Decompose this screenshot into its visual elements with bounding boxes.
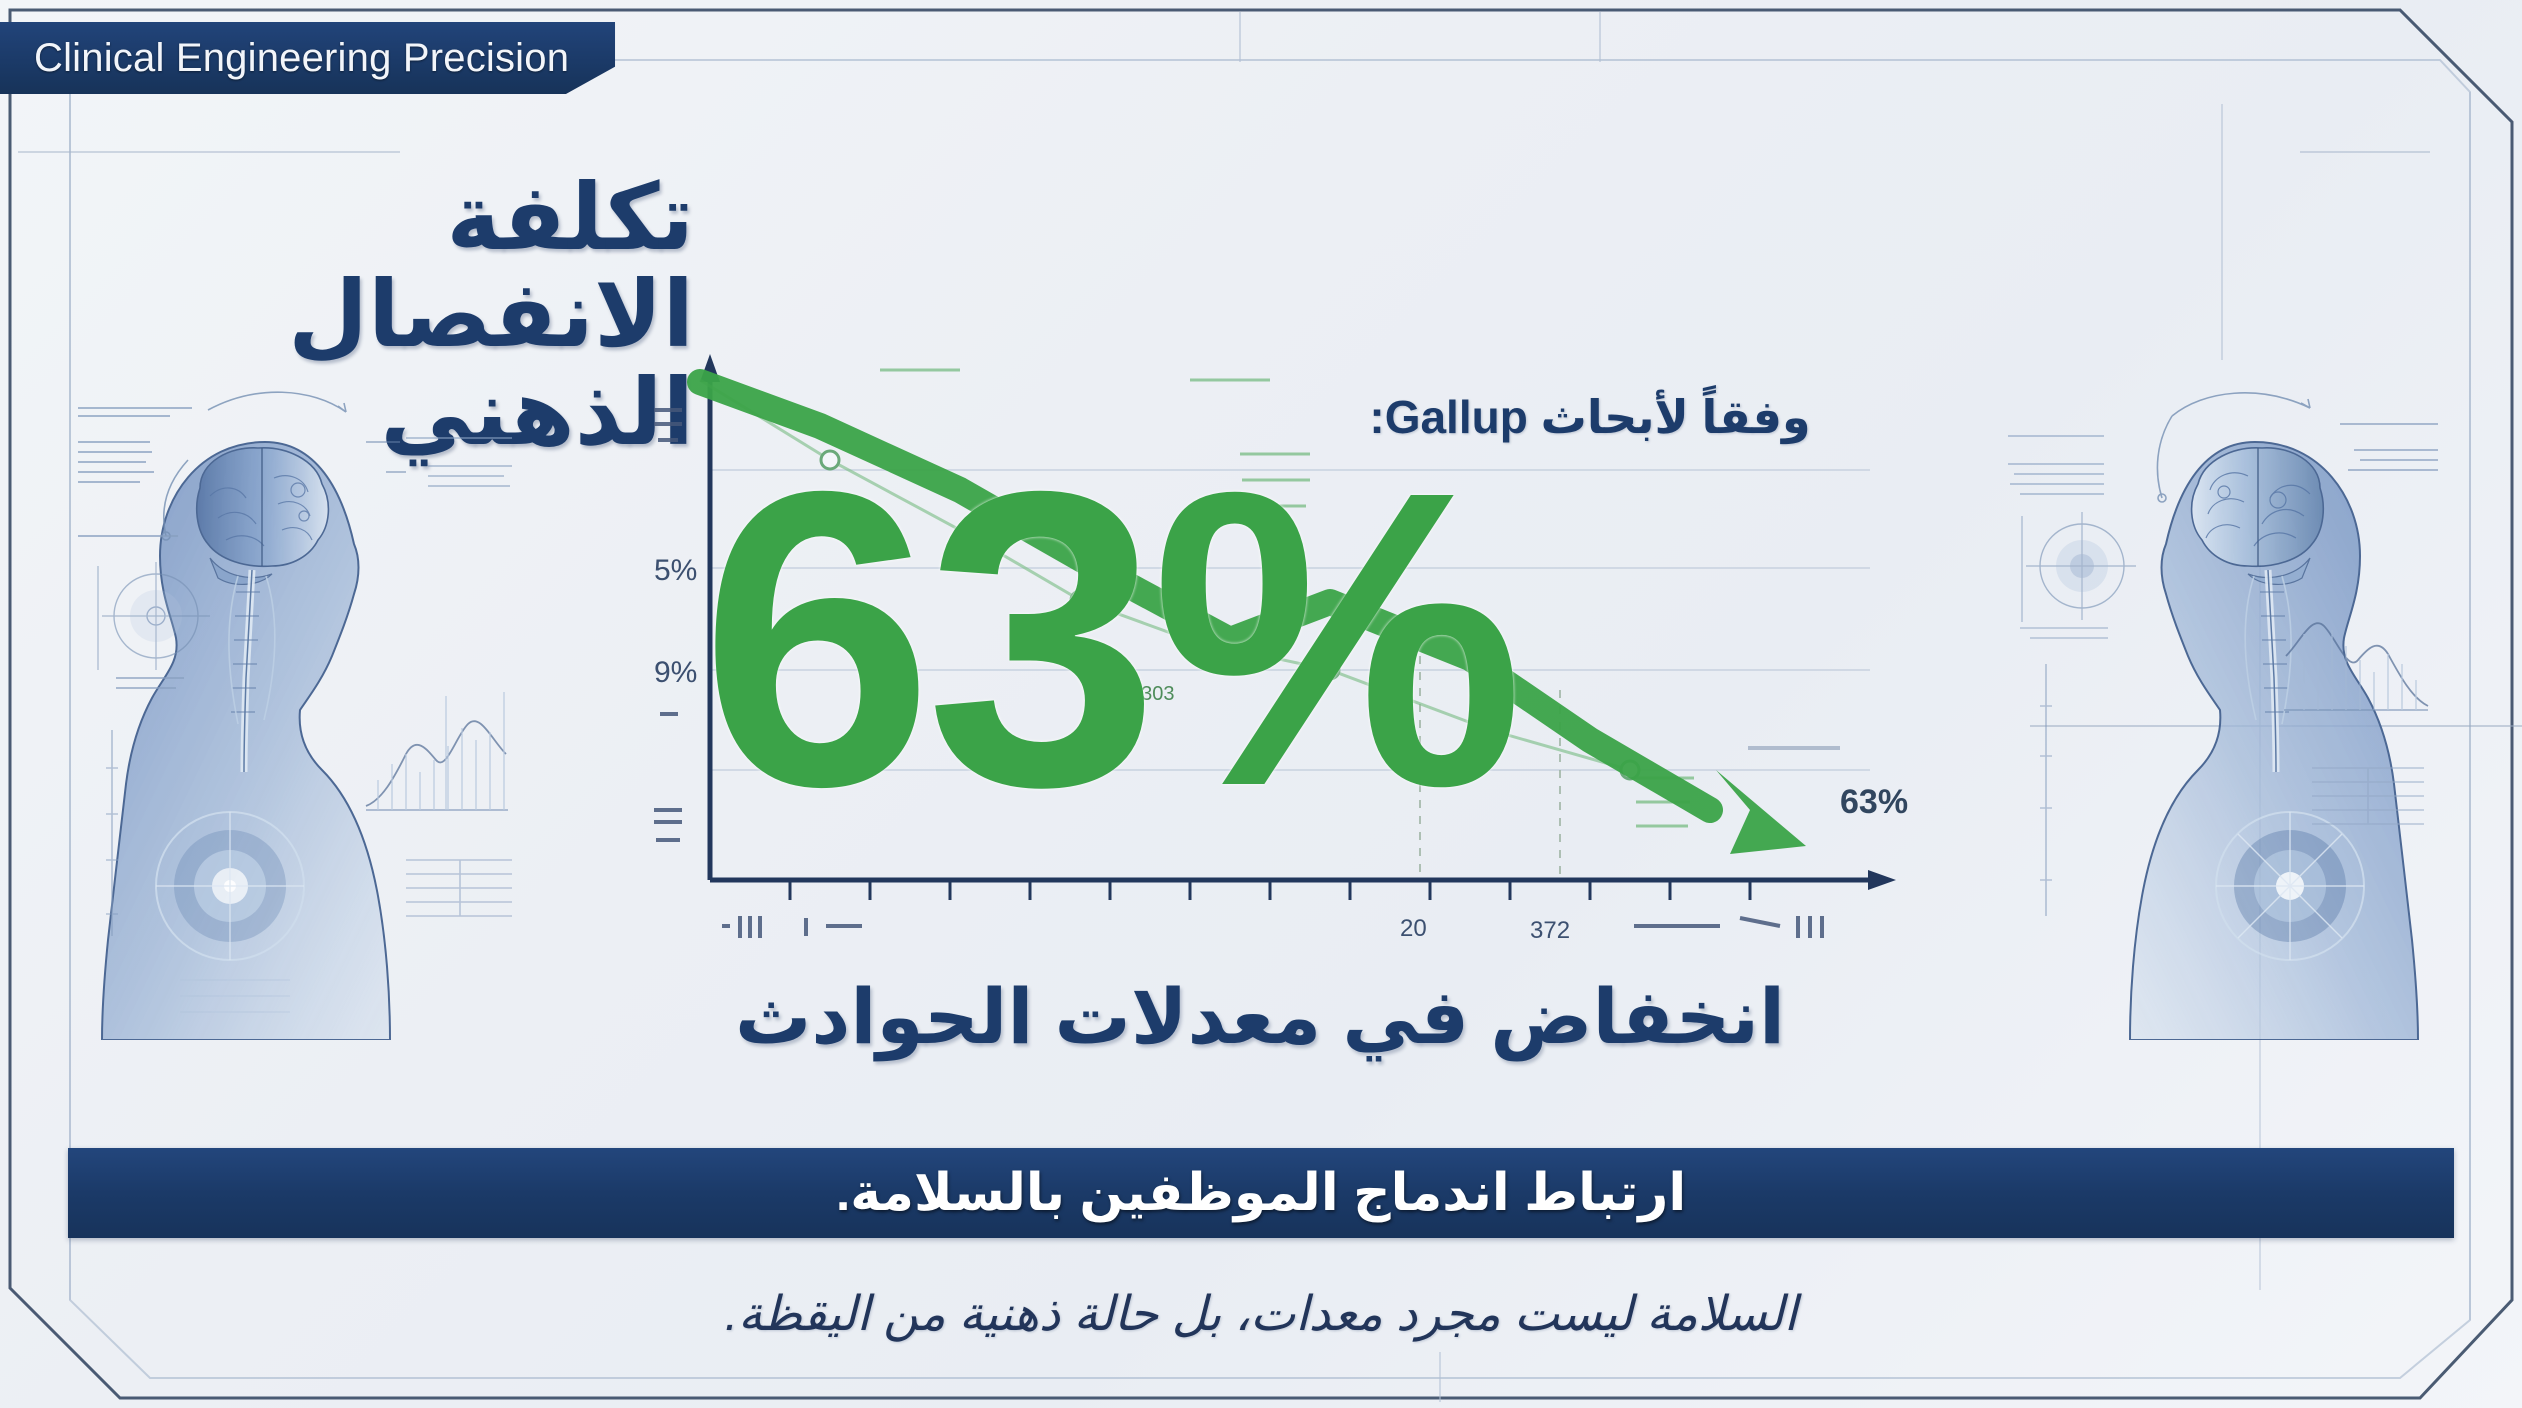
anatomical-figure-right: [1980, 380, 2460, 1040]
chart-subtitle: انخفاض في معدلات الحوادث: [480, 972, 2040, 1061]
stat-callout-label: 63%: [1840, 783, 1908, 822]
chart-annotation-60s: 60S: [1170, 563, 1206, 585]
x-tick-label-20: 20: [1400, 915, 1427, 942]
header-tab-label: Clinical Engineering Precision: [34, 36, 569, 81]
conclusion-text: ارتباط اندماج الموظفين بالسلامة.: [836, 1163, 1686, 1223]
blueprint-human-brain-icon: [60, 380, 540, 1040]
header-tab: Clinical Engineering Precision: [0, 22, 615, 94]
y-tick-label-1: 5%: [654, 554, 697, 587]
chart-annotation-6303: 6303: [1130, 683, 1175, 705]
anatomical-figure-left: [60, 380, 540, 1040]
y-tick-label-2: 9%: [654, 656, 697, 689]
x-tick-label-372: 372: [1530, 917, 1570, 944]
conclusion-band: ارتباط اندماج الموظفين بالسلامة.: [68, 1148, 2454, 1238]
infographic-poster: Clinical Engineering Precision تكلفة الا…: [0, 0, 2522, 1408]
source-note: وفقاً لأبحاث Gallup:: [1290, 390, 1890, 444]
footer-tagline: السلامة ليست مجرد معدات، بل حالة ذهنية م…: [0, 1286, 2522, 1342]
blueprint-human-brain-icon-mirrored: [1980, 380, 2460, 1040]
